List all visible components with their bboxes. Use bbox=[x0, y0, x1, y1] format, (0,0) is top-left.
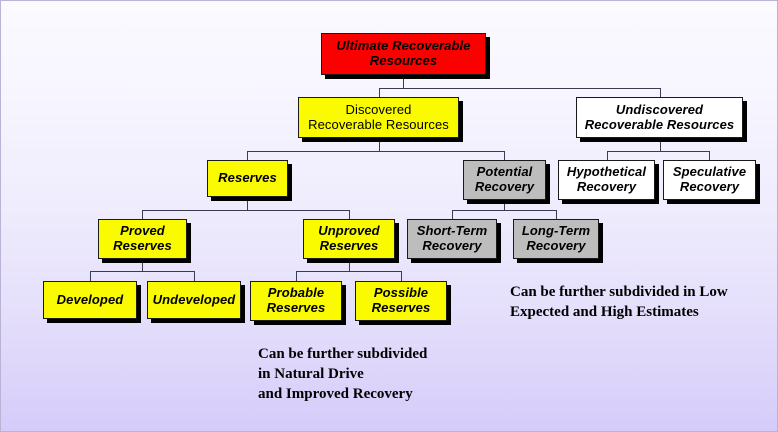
node-unproved-reserves[interactable]: UnprovedReserves bbox=[303, 219, 395, 259]
node-proved-line2: Reserves bbox=[113, 238, 172, 253]
node-speculative-recovery[interactable]: SpeculativeRecovery bbox=[663, 160, 756, 200]
node-possible-reserves[interactable]: PossibleReserves bbox=[355, 281, 447, 321]
connector-proved-stem bbox=[142, 259, 143, 271]
node-hypothetical-recovery[interactable]: HypotheticalRecovery bbox=[558, 160, 655, 200]
note-undiscovered-subdivision: Can be further subdivided in Low Expecte… bbox=[510, 283, 760, 323]
node-discovered-line2: Recoverable Resources bbox=[308, 117, 449, 132]
node-shortterm-line1: Short-Term bbox=[417, 223, 488, 238]
node-ultimate-line1: Ultimate Recoverable bbox=[336, 38, 470, 53]
node-probable-line1: Probable bbox=[268, 285, 324, 300]
connector-to-unproved bbox=[349, 210, 350, 219]
node-probable-line2: Reserves bbox=[267, 300, 326, 315]
connector-to-reserves bbox=[247, 151, 248, 160]
node-reserves-label: Reserves bbox=[208, 171, 287, 186]
node-ultimate-line2: Resources bbox=[370, 53, 437, 68]
connector-to-undiscovered bbox=[660, 88, 661, 97]
node-unproved-line2: Reserves bbox=[320, 238, 379, 253]
connector-to-potential bbox=[504, 151, 505, 160]
connector-to-undeveloped bbox=[194, 271, 195, 281]
connector-to-developed bbox=[90, 271, 91, 281]
connector-row4-left-bus bbox=[142, 210, 350, 211]
node-reserves[interactable]: Reserves bbox=[207, 160, 288, 197]
connector-to-probable bbox=[296, 271, 297, 281]
connector-row3-left-bus bbox=[247, 151, 505, 152]
connector-reserves-stem bbox=[247, 197, 248, 210]
node-proved-line1: Proved bbox=[120, 223, 165, 238]
node-undiscovered-line2: Recoverable Resources bbox=[585, 117, 735, 132]
connector-unproved-stem bbox=[349, 259, 350, 271]
node-shortterm-line2: Recovery bbox=[422, 238, 481, 253]
note-reserves-subdivision: Can be further subdivided in Natural Dri… bbox=[258, 345, 518, 404]
node-longterm-line2: Recovery bbox=[526, 238, 585, 253]
node-speculative-line2: Recovery bbox=[680, 179, 739, 194]
connector-undiscovered-stem bbox=[660, 138, 661, 151]
diagram-canvas: Ultimate RecoverableResources Discovered… bbox=[0, 0, 778, 432]
node-longterm-line1: Long-Term bbox=[522, 223, 590, 238]
node-possible-line2: Reserves bbox=[372, 300, 431, 315]
connector-to-discovered bbox=[379, 88, 380, 97]
node-proved-reserves[interactable]: ProvedReserves bbox=[98, 219, 187, 259]
node-potential-recovery[interactable]: PotentialRecovery bbox=[463, 160, 546, 200]
node-probable-reserves[interactable]: ProbableReserves bbox=[250, 281, 342, 321]
node-hypothetical-line2: Recovery bbox=[577, 179, 636, 194]
connector-ultimate-stem bbox=[403, 75, 404, 88]
node-speculative-line1: Speculative bbox=[673, 164, 746, 179]
connector-to-hypothetical bbox=[607, 151, 608, 160]
node-hypothetical-line1: Hypothetical bbox=[567, 164, 646, 179]
node-undeveloped[interactable]: Undeveloped bbox=[147, 281, 241, 319]
node-short-term-recovery[interactable]: Short-TermRecovery bbox=[407, 219, 497, 259]
node-undiscovered-recoverable-resources[interactable]: UndiscoveredRecoverable Resources bbox=[576, 97, 743, 138]
node-developed-label: Developed bbox=[44, 293, 136, 308]
node-unproved-line1: Unproved bbox=[318, 223, 379, 238]
connector-row3-right-bus bbox=[607, 151, 710, 152]
connector-row5-a-bus bbox=[90, 271, 194, 272]
connector-to-speculative bbox=[709, 151, 710, 160]
node-undeveloped-label: Undeveloped bbox=[148, 293, 240, 308]
connector-row2-bus bbox=[379, 88, 661, 89]
connector-to-possible bbox=[401, 271, 402, 281]
node-developed[interactable]: Developed bbox=[43, 281, 137, 319]
connector-to-proved bbox=[142, 210, 143, 219]
node-undiscovered-line1: Undiscovered bbox=[616, 102, 703, 117]
node-discovered-line1: Discovered bbox=[345, 102, 411, 117]
node-discovered-recoverable-resources[interactable]: DiscoveredRecoverable Resources bbox=[298, 97, 459, 138]
connector-row4-right-bus bbox=[452, 210, 556, 211]
connector-to-longterm bbox=[556, 210, 557, 219]
node-long-term-recovery[interactable]: Long-TermRecovery bbox=[513, 219, 599, 259]
node-potential-line2: Recovery bbox=[475, 179, 534, 194]
node-possible-line1: Possible bbox=[374, 285, 428, 300]
node-ultimate-recoverable-resources[interactable]: Ultimate RecoverableResources bbox=[321, 33, 486, 75]
node-potential-line1: Potential bbox=[477, 164, 533, 179]
connector-row5-b-bus bbox=[296, 271, 401, 272]
connector-to-shortterm bbox=[452, 210, 453, 219]
connector-discovered-stem bbox=[379, 138, 380, 151]
